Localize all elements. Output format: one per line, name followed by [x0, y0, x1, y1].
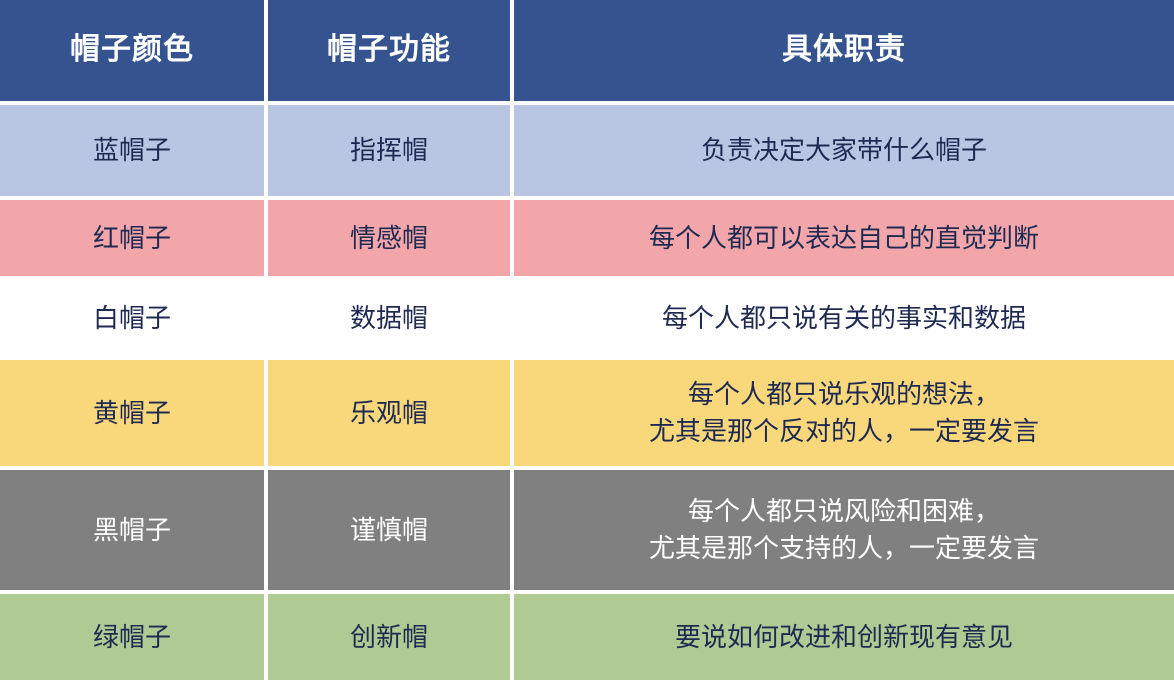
hat-color-label-red: 红帽子 [93, 220, 171, 257]
table-header-row: 帽子颜色 帽子功能 具体职责 [0, 0, 1174, 101]
hat-function-label-yellow: 乐观帽 [350, 395, 428, 432]
column-header-specific-duty-label: 具体职责 [782, 29, 906, 72]
hat-function-label-white: 数据帽 [350, 300, 428, 337]
hat-color-label-white: 白帽子 [93, 300, 171, 337]
cell-hat-color-white: 白帽子 [0, 280, 264, 356]
hat-color-label-black: 黑帽子 [93, 512, 171, 549]
cell-hat-color-green: 绿帽子 [0, 594, 264, 680]
cell-hat-function-red: 情感帽 [264, 200, 510, 276]
column-header-hat-function: 帽子功能 [264, 0, 510, 101]
hat-duty-label-green: 要说如何改进和创新现有意见 [675, 619, 1013, 656]
hat-function-label-black: 谨慎帽 [350, 512, 428, 549]
hat-function-label-red: 情感帽 [350, 220, 428, 257]
hat-function-label-green: 创新帽 [350, 619, 428, 656]
cell-hat-duty-black: 每个人都只说风险和困难， 尤其是那个支持的人，一定要发言 [510, 470, 1174, 590]
table-row-blue-hat: 蓝帽子 指挥帽 负责决定大家带什么帽子 [0, 101, 1174, 196]
table-row-yellow-hat: 黄帽子 乐观帽 每个人都只说乐观的想法， 尤其是那个反对的人，一定要发言 [0, 356, 1174, 466]
hat-duty-label-yellow: 每个人都只说乐观的想法， 尤其是那个反对的人，一定要发言 [649, 376, 1039, 450]
cell-hat-color-red: 红帽子 [0, 200, 264, 276]
table-row-green-hat: 绿帽子 创新帽 要说如何改进和创新现有意见 [0, 590, 1174, 680]
cell-hat-duty-red: 每个人都可以表达自己的直觉判断 [510, 200, 1174, 276]
hat-color-label-yellow: 黄帽子 [93, 395, 171, 432]
hat-duty-label-blue: 负责决定大家带什么帽子 [701, 132, 987, 169]
table-row-red-hat: 红帽子 情感帽 每个人都可以表达自己的直觉判断 [0, 196, 1174, 276]
cell-hat-function-black: 谨慎帽 [264, 470, 510, 590]
hat-function-label-blue: 指挥帽 [350, 132, 428, 169]
six-thinking-hats-table: 帽子颜色 帽子功能 具体职责 蓝帽子 指挥帽 负责决定大家带什么帽子 红帽子 情… [0, 0, 1174, 688]
column-header-specific-duty: 具体职责 [510, 0, 1174, 101]
cell-hat-function-yellow: 乐观帽 [264, 360, 510, 466]
column-header-hat-color: 帽子颜色 [0, 0, 264, 101]
cell-hat-function-green: 创新帽 [264, 594, 510, 680]
hat-duty-label-white: 每个人都只说有关的事实和数据 [662, 300, 1026, 337]
hat-color-label-blue: 蓝帽子 [93, 132, 171, 169]
column-header-hat-color-label: 帽子颜色 [70, 29, 194, 72]
hat-duty-label-red: 每个人都可以表达自己的直觉判断 [649, 220, 1039, 257]
column-header-hat-function-label: 帽子功能 [327, 29, 451, 72]
cell-hat-duty-blue: 负责决定大家带什么帽子 [510, 105, 1174, 196]
hat-duty-label-black: 每个人都只说风险和困难， 尤其是那个支持的人，一定要发言 [649, 493, 1039, 567]
table-row-black-hat: 黑帽子 谨慎帽 每个人都只说风险和困难， 尤其是那个支持的人，一定要发言 [0, 466, 1174, 590]
cell-hat-color-blue: 蓝帽子 [0, 105, 264, 196]
cell-hat-color-yellow: 黄帽子 [0, 360, 264, 466]
cell-hat-duty-green: 要说如何改进和创新现有意见 [510, 594, 1174, 680]
cell-hat-function-blue: 指挥帽 [264, 105, 510, 196]
table-row-white-hat: 白帽子 数据帽 每个人都只说有关的事实和数据 [0, 276, 1174, 356]
cell-hat-color-black: 黑帽子 [0, 470, 264, 590]
cell-hat-duty-white: 每个人都只说有关的事实和数据 [510, 280, 1174, 356]
cell-hat-duty-yellow: 每个人都只说乐观的想法， 尤其是那个反对的人，一定要发言 [510, 360, 1174, 466]
hat-color-label-green: 绿帽子 [93, 619, 171, 656]
cell-hat-function-white: 数据帽 [264, 280, 510, 356]
